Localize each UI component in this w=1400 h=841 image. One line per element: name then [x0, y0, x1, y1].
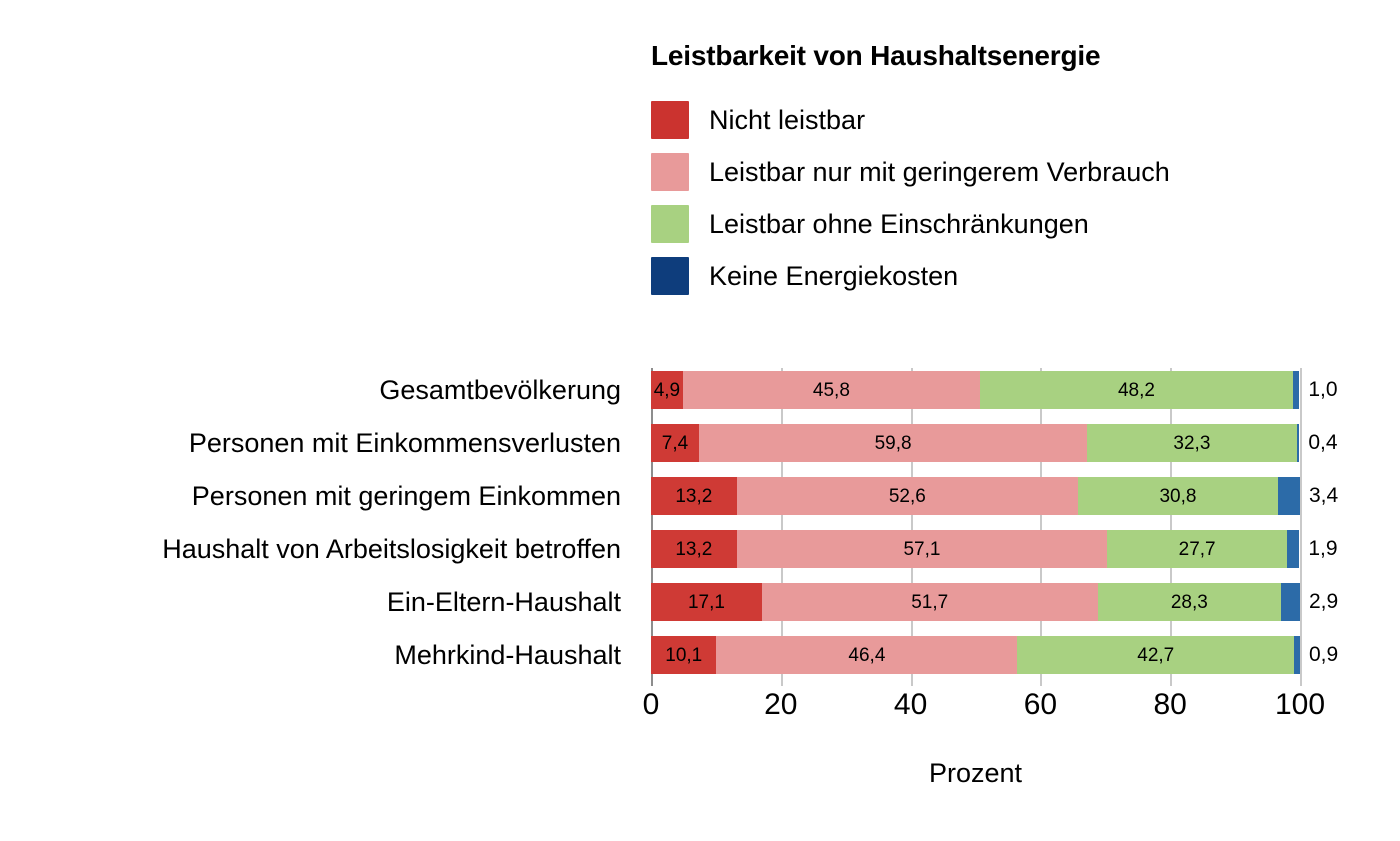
- bar-segment[interactable]: 42,7: [1017, 636, 1294, 674]
- legend-item-label: Leistbar nur mit geringerem Verbrauch: [709, 159, 1170, 186]
- bar-segment-value-label: 32,3: [1173, 434, 1210, 453]
- bar-segment[interactable]: 3,4: [1278, 477, 1300, 515]
- bar-segment[interactable]: 46,4: [716, 636, 1017, 674]
- stacked-bars: 4,945,848,21,07,459,832,30,413,252,630,8…: [651, 368, 1300, 686]
- bar-segment-value-label: 42,7: [1137, 646, 1174, 665]
- x-axis-tick-label: 80: [1154, 690, 1187, 720]
- y-axis-label: Haushalt von Arbeitslosigkeit betroffen: [162, 530, 636, 568]
- bar-segment[interactable]: 17,1: [651, 583, 762, 621]
- legend-swatch-icon: [651, 205, 689, 243]
- bar-segment-value-label: 0,4: [1299, 424, 1337, 462]
- bar-segment[interactable]: 32,3: [1087, 424, 1297, 462]
- bar-segment-value-label: 17,1: [688, 593, 725, 612]
- bar-segment-value-label: 4,9: [654, 381, 680, 400]
- bar-segment[interactable]: 1,0: [1293, 371, 1299, 409]
- bar-segment-value-label: 7,4: [662, 434, 688, 453]
- y-axis-label: Ein-Eltern-Haushalt: [387, 583, 636, 621]
- bar-segment-value-label: 0,9: [1300, 636, 1338, 674]
- legend-item-label: Nicht leistbar: [709, 107, 865, 134]
- bar-segment[interactable]: 0,4: [1297, 424, 1300, 462]
- bar-segment[interactable]: 2,9: [1281, 583, 1300, 621]
- bar-segment-value-label: 28,3: [1171, 593, 1208, 612]
- bar-segment[interactable]: 57,1: [737, 530, 1108, 568]
- chart-figure: Leistbarkeit von Haushaltsenergie Nicht …: [0, 0, 1400, 841]
- legend-item-1[interactable]: Nicht leistbar: [651, 94, 1351, 146]
- x-axis-tick-label: 60: [1024, 690, 1057, 720]
- chart-title: Leistbarkeit von Haushaltsenergie: [651, 40, 1351, 72]
- bar-segment[interactable]: 4,9: [651, 371, 683, 409]
- bar-segment-value-label: 51,7: [911, 593, 948, 612]
- bar-segment[interactable]: 13,2: [651, 530, 737, 568]
- legend-items: Nicht leistbarLeistbar nur mit geringere…: [651, 94, 1351, 302]
- y-axis-category-labels: GesamtbevölkerungPersonen mit Einkommens…: [0, 368, 636, 686]
- y-axis-label: Gesamtbevölkerung: [379, 371, 636, 409]
- bar-segment[interactable]: 0,9: [1294, 636, 1300, 674]
- bar-segment-value-label: 1,9: [1299, 530, 1337, 568]
- bar-segment-value-label: 46,4: [848, 646, 885, 665]
- bar-segment-value-label: 3,4: [1300, 477, 1338, 515]
- bar-row[interactable]: 7,459,832,30,4: [651, 424, 1300, 462]
- legend-item-4[interactable]: Keine Energiekosten: [651, 250, 1351, 302]
- bar-segment-value-label: 13,2: [675, 487, 712, 506]
- legend-item-label: Leistbar ohne Einschränkungen: [709, 211, 1089, 238]
- bar-segment-value-label: 59,8: [875, 434, 912, 453]
- x-axis-tick-label: 0: [643, 690, 660, 720]
- x-axis-tick-label: 20: [764, 690, 797, 720]
- x-axis-ticks: 020406080100: [651, 690, 1300, 734]
- bar-segment-value-label: 10,1: [665, 646, 702, 665]
- bar-segment-value-label: 52,6: [889, 487, 926, 506]
- y-axis-label: Mehrkind-Haushalt: [394, 636, 636, 674]
- y-axis-label: Personen mit Einkommensverlusten: [189, 424, 636, 462]
- legend-swatch-icon: [651, 257, 689, 295]
- bar-segment-value-label: 2,9: [1300, 583, 1338, 621]
- bar-segment[interactable]: 27,7: [1107, 530, 1287, 568]
- bar-segment[interactable]: 1,9: [1287, 530, 1299, 568]
- bar-segment[interactable]: 45,8: [683, 371, 980, 409]
- bar-segment-value-label: 45,8: [813, 381, 850, 400]
- bar-segment[interactable]: 28,3: [1098, 583, 1282, 621]
- bar-segment[interactable]: 59,8: [699, 424, 1087, 462]
- x-axis-tick-label: 100: [1275, 690, 1325, 720]
- bar-row[interactable]: 13,257,127,71,9: [651, 530, 1300, 568]
- bar-segment-value-label: 57,1: [903, 540, 940, 559]
- legend-item-2[interactable]: Leistbar nur mit geringerem Verbrauch: [651, 146, 1351, 198]
- x-axis-tick-label: 40: [894, 690, 927, 720]
- bar-segment-value-label: 30,8: [1159, 487, 1196, 506]
- bar-row[interactable]: 4,945,848,21,0: [651, 371, 1300, 409]
- x-axis-title: Prozent: [651, 758, 1300, 789]
- bar-segment[interactable]: 48,2: [980, 371, 1293, 409]
- bar-segment-value-label: 13,2: [675, 540, 712, 559]
- bar-segment-value-label: 27,7: [1179, 540, 1216, 559]
- bar-segment[interactable]: 51,7: [762, 583, 1098, 621]
- legend-swatch-icon: [651, 101, 689, 139]
- bar-segment[interactable]: 13,2: [651, 477, 737, 515]
- bar-segment[interactable]: 30,8: [1078, 477, 1278, 515]
- bar-row[interactable]: 10,146,442,70,9: [651, 636, 1300, 674]
- plot-area: 4,945,848,21,07,459,832,30,413,252,630,8…: [651, 368, 1300, 686]
- bar-segment-value-label: 1,0: [1299, 371, 1337, 409]
- bar-segment[interactable]: 52,6: [737, 477, 1078, 515]
- bar-segment[interactable]: 10,1: [651, 636, 716, 674]
- chart-legend: Leistbarkeit von Haushaltsenergie Nicht …: [651, 40, 1351, 302]
- y-axis-label: Personen mit geringem Einkommen: [192, 477, 636, 515]
- bar-row[interactable]: 17,151,728,32,9: [651, 583, 1300, 621]
- bar-segment-value-label: 48,2: [1118, 381, 1155, 400]
- bar-segment[interactable]: 7,4: [651, 424, 699, 462]
- legend-swatch-icon: [651, 153, 689, 191]
- legend-item-label: Keine Energiekosten: [709, 263, 958, 290]
- bar-row[interactable]: 13,252,630,83,4: [651, 477, 1300, 515]
- legend-item-3[interactable]: Leistbar ohne Einschränkungen: [651, 198, 1351, 250]
